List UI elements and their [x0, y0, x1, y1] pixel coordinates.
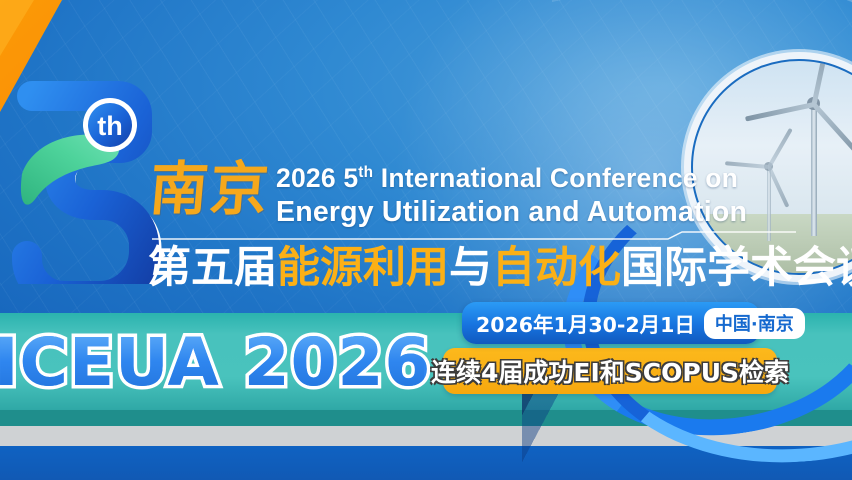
turbine-blade-icon	[812, 59, 831, 105]
conference-date: 2026年1月30-2月1日	[476, 308, 695, 338]
date-badge: 2026年1月30-2月1日 中国·南京	[462, 302, 760, 344]
conference-banner: th 南京 2026 5th International Conference …	[0, 0, 852, 480]
title-cn-part5: 国际学术会议	[621, 243, 852, 293]
title-chinese: 第五届能源利用与自动化国际学术会议	[148, 240, 848, 296]
orange-corner-chip	[0, 0, 40, 56]
title-en-line1-rest: International Conference on	[373, 163, 738, 193]
title-cn-part1: 第五届	[148, 243, 277, 293]
title-en-edition-number: 5	[343, 163, 358, 193]
turbine-blade-icon	[745, 102, 815, 121]
acronym-wordmark: ICEUA 2026	[0, 322, 424, 404]
edition-logo-5th: th	[0, 78, 164, 284]
title-english: 2026 5th International Conference on Ene…	[276, 156, 796, 229]
location-pill: 中国·南京	[704, 308, 805, 339]
title-cn-part4: 自动化	[492, 243, 621, 293]
title-cn-part2: 能源利用	[277, 243, 449, 293]
title-divider	[152, 231, 796, 240]
indexing-badge: 连续4届成功EI和SCOPUS检索	[443, 348, 777, 394]
city-calligraphy: 南京	[147, 152, 278, 226]
title-cn-part3: 与	[449, 243, 492, 293]
svg-text:th: th	[97, 111, 122, 141]
title-en-year: 2026	[276, 163, 343, 193]
title-en-edition-suffix: th	[358, 164, 373, 181]
indexing-badge-label: 连续4届成功EI和SCOPUS检索	[443, 348, 777, 394]
turbine-blade-icon	[812, 103, 852, 158]
title-english-line2: Energy Utilization and Automation	[276, 195, 796, 229]
title-english-line1: 2026 5th International Conference on	[276, 156, 796, 195]
